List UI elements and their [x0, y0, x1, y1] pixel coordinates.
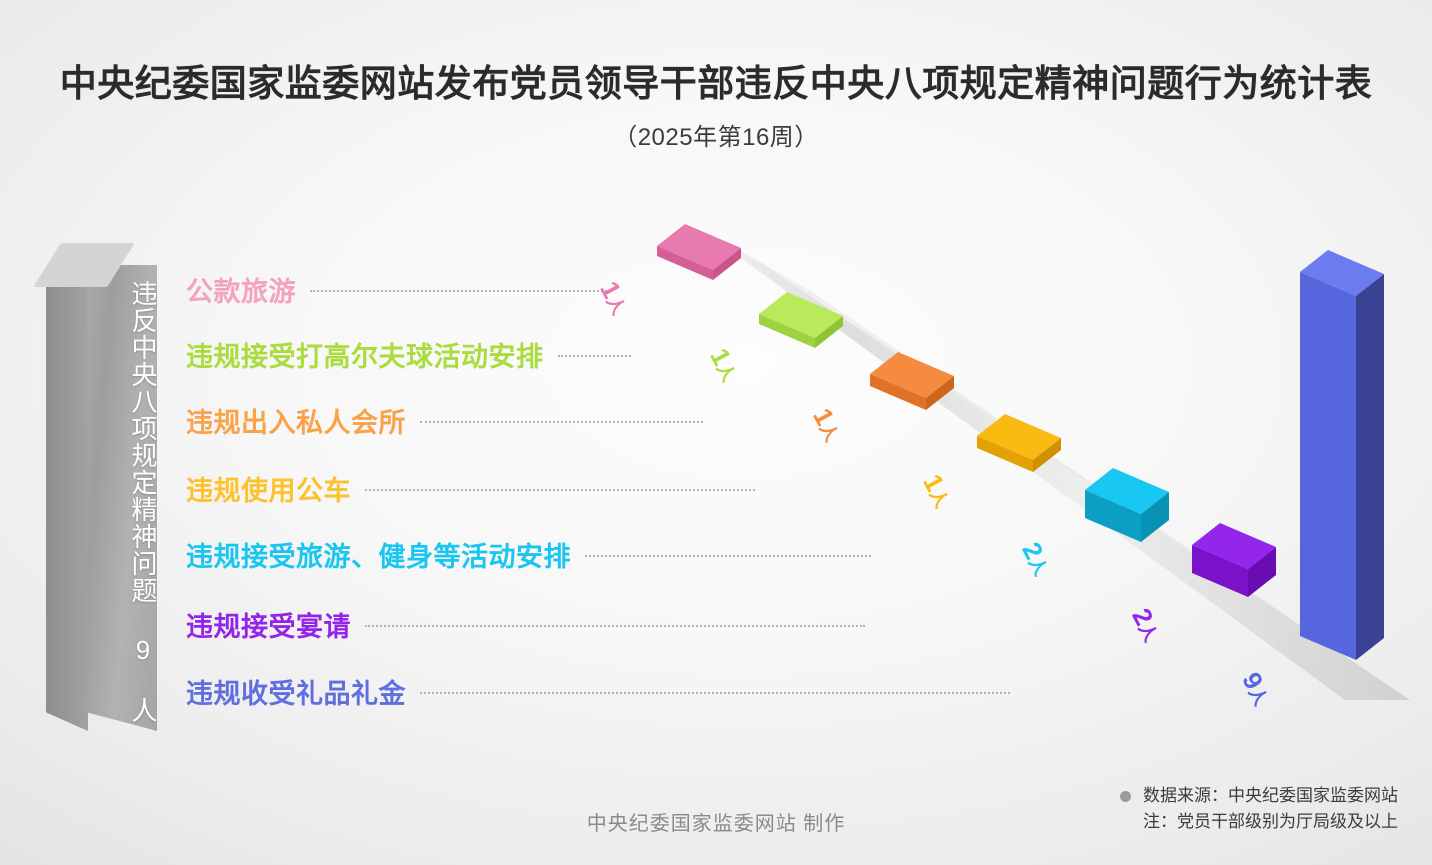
step-bar-7 [1296, 248, 1406, 673]
total-column: 违反中央八项规定精神问题 9 人 [40, 243, 162, 743]
leader-line-5 [585, 555, 871, 559]
leader-line-1 [310, 290, 610, 294]
bullet-dot-icon [1120, 791, 1131, 802]
category-label-6: 违规接受宴请 [186, 605, 351, 644]
footer-notes: 数据来源：中央纪委国家监委网站 注：党员干部级别为厅局级及以上 [1120, 783, 1398, 834]
value-label-4: 1人 [916, 469, 959, 512]
step-box-2 [757, 290, 847, 360]
leader-line-2 [558, 355, 631, 359]
column-side-face [46, 265, 88, 731]
source-note-line: 数据来源：中央纪委国家监委网站 [1120, 783, 1398, 809]
step-box-6 [1190, 521, 1282, 613]
category-row: 违规接受打高尔夫球活动安排 [186, 333, 631, 375]
category-label-3: 违规出入私人会所 [186, 401, 406, 440]
step-box-3 [868, 350, 958, 425]
category-label-5: 违规接受旅游、健身等活动安排 [186, 535, 571, 574]
category-row: 违规使用公车 [186, 467, 755, 509]
category-label-4: 违规使用公车 [186, 469, 351, 508]
step-box-5 [1083, 466, 1175, 556]
value-label-5: 2人 [1015, 537, 1058, 580]
category-label-7: 违规收受礼品礼金 [186, 672, 406, 711]
leader-line-7 [420, 692, 1010, 696]
value-label-3: 1人 [806, 403, 849, 446]
value-label-6: 2人 [1125, 603, 1168, 646]
level-note-line: 注：党员干部级别为厅局级及以上 [1120, 809, 1398, 835]
leader-line-3 [420, 421, 703, 425]
category-row: 违规接受旅游、健身等活动安排 [186, 533, 871, 575]
leader-line-4 [365, 489, 755, 493]
source-note: 数据来源：中央纪委国家监委网站 [1143, 786, 1398, 805]
category-row: 违规收受礼品礼金 [186, 670, 1010, 712]
value-label-7: 9人 [1235, 667, 1278, 710]
value-label-2: 1人 [703, 343, 746, 386]
leader-line-6 [365, 625, 865, 629]
page-subtitle: （2025年第16周） [0, 117, 1432, 152]
page-title: 中央纪委国家监委网站发布党员领导干部违反中央八项规定精神问题行为统计表 [0, 62, 1432, 106]
category-label-2: 违规接受打高尔夫球活动安排 [186, 335, 544, 374]
category-row: 违规出入私人会所 [186, 399, 703, 441]
total-column-label: 违反中央八项规定精神问题 9 人 [90, 277, 156, 727]
step-box-4 [975, 412, 1065, 487]
title-block: 中央纪委国家监委网站发布党员领导干部违反中央八项规定精神问题行为统计表 （202… [0, 62, 1432, 152]
category-row: 公款旅游 [186, 268, 610, 310]
level-note: 注：党员干部级别为厅局级及以上 [1143, 812, 1398, 831]
step-box-1 [655, 222, 745, 292]
category-label-1: 公款旅游 [186, 270, 296, 309]
category-row: 违规接受宴请 [186, 603, 865, 645]
